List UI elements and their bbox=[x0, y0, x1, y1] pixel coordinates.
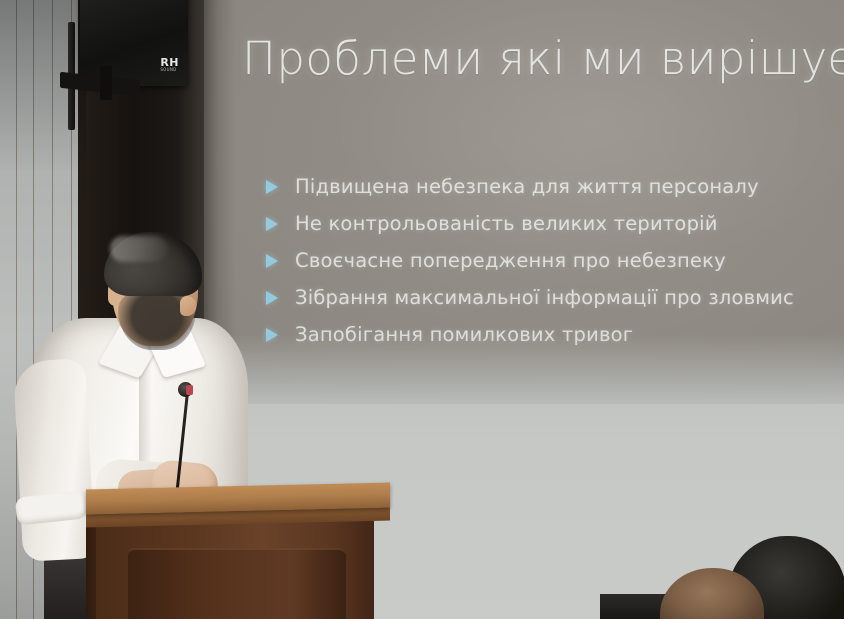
slide-bullet-item: Підвищена небезпека для життя персоналу bbox=[266, 168, 844, 205]
slide-bullet-text: Підвищена небезпека для життя персоналу bbox=[295, 175, 759, 198]
presenter-nose bbox=[180, 296, 196, 316]
slide-title: Проблеми які ми вирішує bbox=[242, 32, 844, 85]
triangle-right-icon bbox=[266, 254, 278, 268]
screen-bottom-fade bbox=[196, 334, 844, 404]
slide-bullet-text: Не контрольованість великих територій bbox=[295, 212, 718, 235]
triangle-right-icon bbox=[266, 291, 278, 305]
slide-bullet-item: Зібрання максимальної інформації про зло… bbox=[266, 279, 844, 316]
ceiling-speaker: RH SOUND bbox=[80, 0, 188, 86]
presenter-sleeve bbox=[13, 358, 95, 561]
speaker-brand-label: RH SOUND bbox=[160, 57, 179, 72]
speaker-brand-sub: SOUND bbox=[160, 68, 179, 72]
slide-bullet-text: Своєчасне попередження про небезпеку bbox=[295, 249, 726, 272]
projection-screen: Проблеми які ми вирішує Підвищена небезп… bbox=[196, 0, 844, 404]
slide-bullet-item: Своєчасне попередження про небезпеку bbox=[266, 242, 844, 279]
presenter-hair-highlight bbox=[110, 236, 168, 262]
slide-bullet-text: Зібрання максимальної інформації про зло… bbox=[295, 286, 794, 309]
slide-bullet-item: Не контрольованість великих територій bbox=[266, 205, 844, 242]
slide-bullet-list: Підвищена небезпека для життя персоналу … bbox=[266, 168, 844, 353]
triangle-right-icon bbox=[266, 180, 278, 194]
microphone-indicator bbox=[186, 385, 193, 395]
presentation-photo-scene: Проблеми які ми вирішує Підвищена небезп… bbox=[0, 0, 844, 619]
triangle-right-icon bbox=[266, 217, 278, 231]
podium-front-panel bbox=[126, 548, 346, 619]
speaker-bracket-arm bbox=[100, 66, 112, 100]
